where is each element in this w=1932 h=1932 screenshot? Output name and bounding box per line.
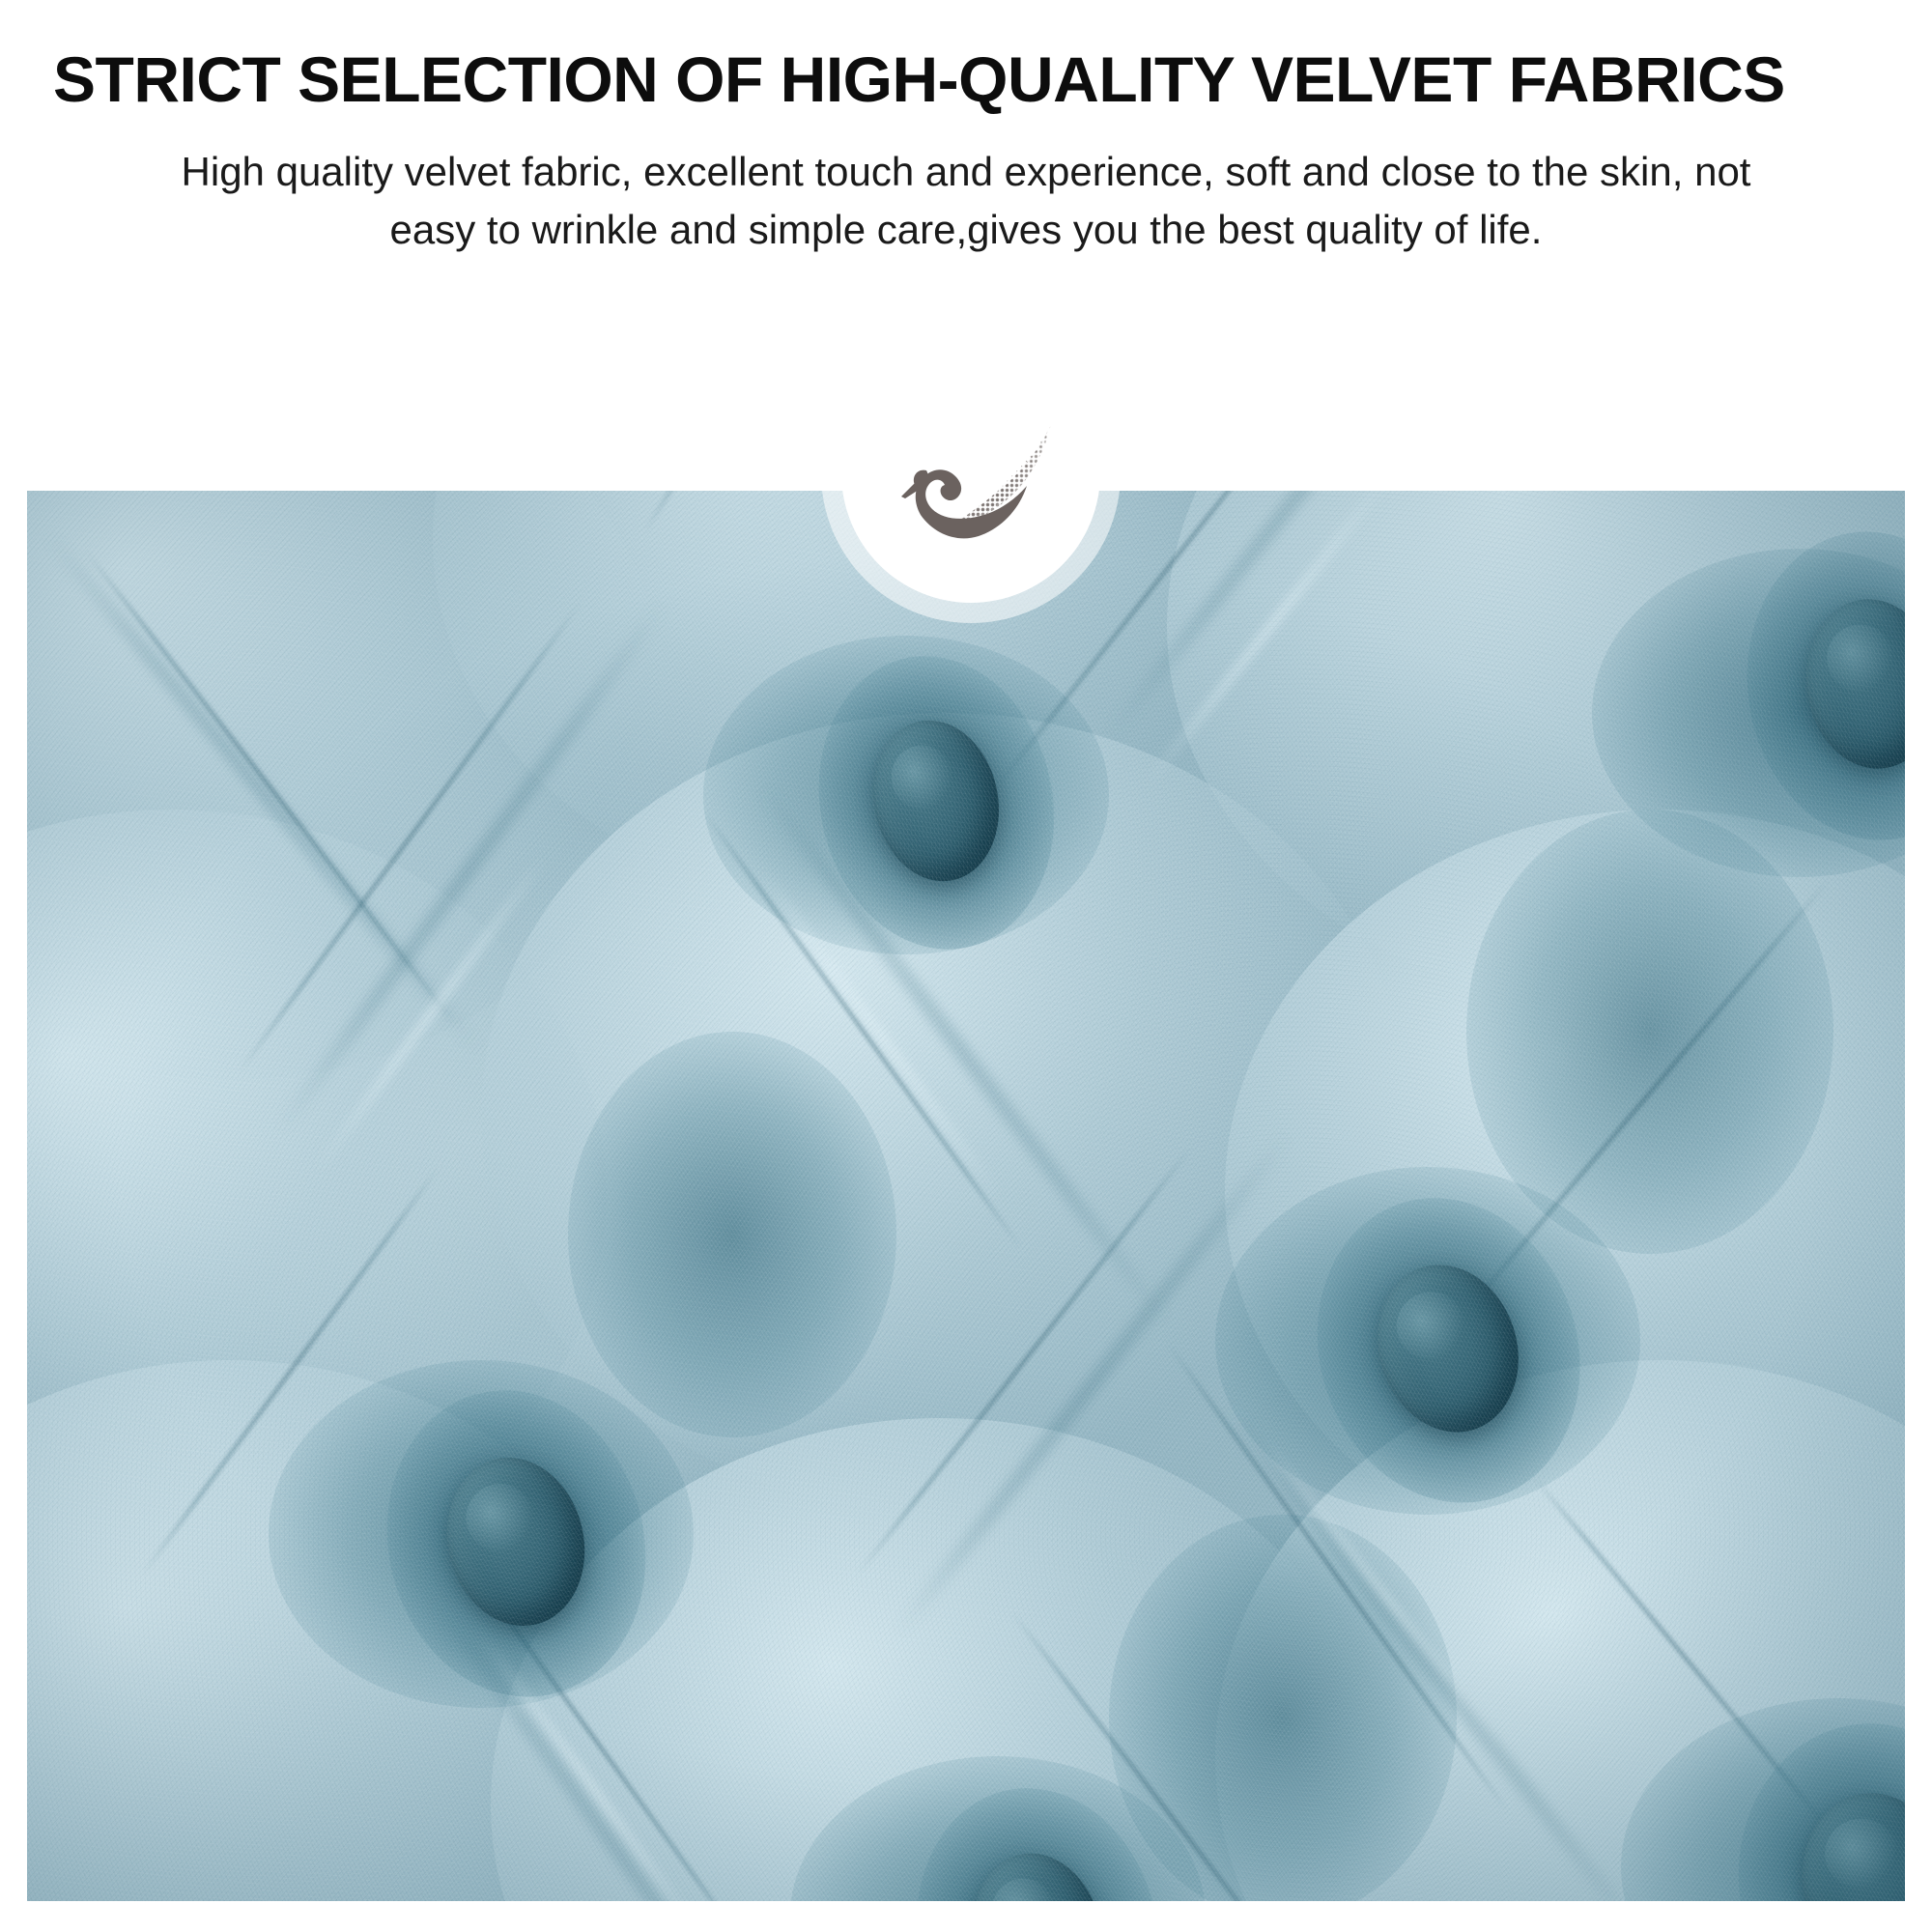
tufted-velvet-fabric-photo [27, 491, 1905, 1901]
button-top-center [859, 709, 1013, 894]
button-center [1356, 1246, 1539, 1450]
fabric-crease [43, 531, 485, 1055]
fabric-crease [239, 602, 582, 1072]
fabric-crease [857, 1147, 1192, 1575]
fabric-crease [314, 856, 547, 1173]
subtitle-line-1: High quality velvet fabric, excellent to… [58, 143, 1874, 201]
fabric-crease [1105, 491, 1528, 739]
page-title: STRICT SELECTION OF HIGH-QUALITY VELVET … [53, 46, 1889, 113]
brand-badge-disc [841, 344, 1100, 603]
fabric-crease [893, 1130, 1292, 1638]
subtitle-line-2: easy to wrinkle and simple care,gives yo… [58, 201, 1874, 259]
button-top-right [1795, 590, 1905, 777]
swan-icon [884, 401, 1058, 546]
button-bottom-right [1791, 1783, 1905, 1901]
brand-badge [821, 324, 1121, 623]
page-subtitle: High quality velvet fabric, excellent to… [58, 143, 1874, 258]
button-bottom-center [958, 1841, 1117, 1901]
button-mid-left [430, 1443, 602, 1641]
